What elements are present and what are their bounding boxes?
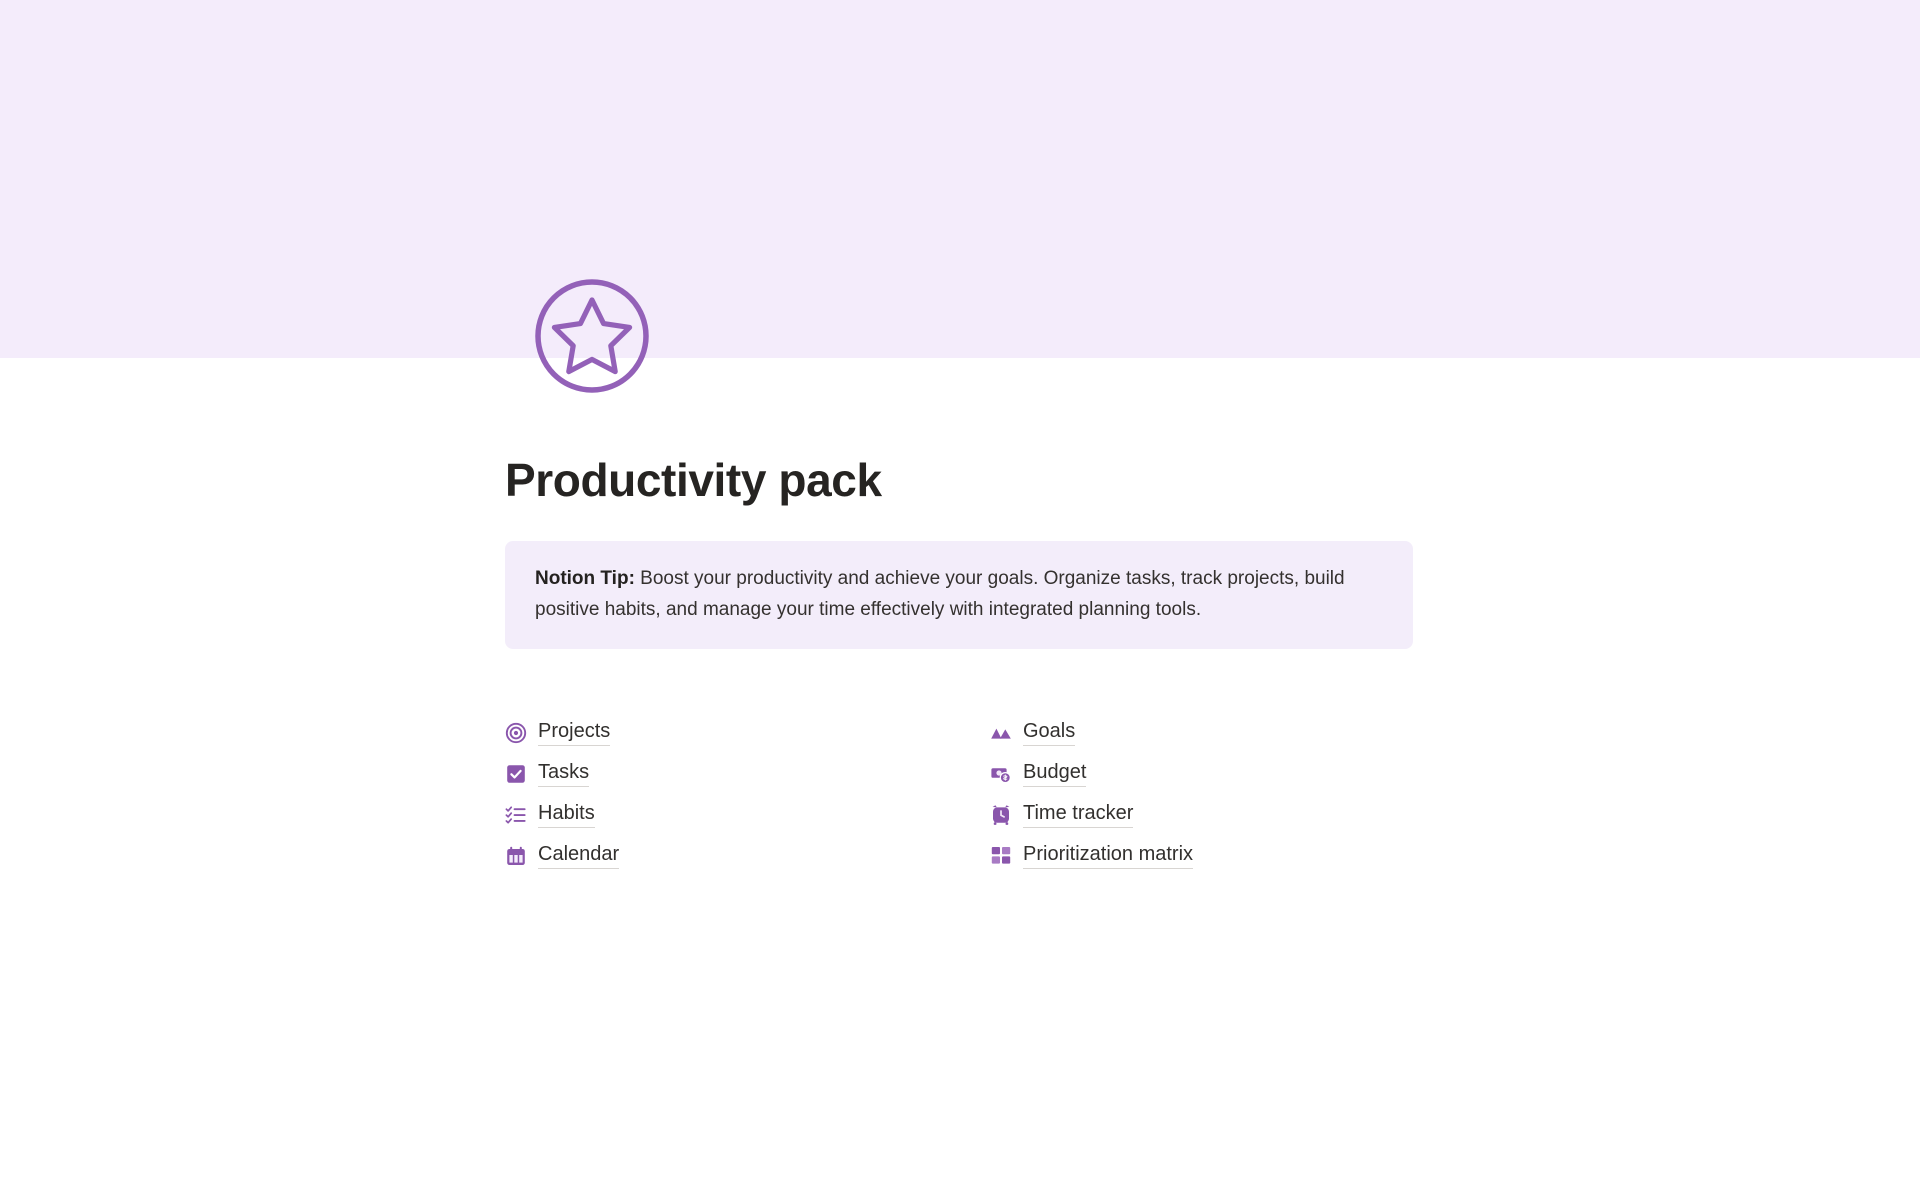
- page-cover: [0, 0, 1920, 358]
- calendar-icon: [505, 845, 527, 867]
- callout-text: Notion Tip: Boost your productivity and …: [535, 563, 1383, 625]
- checkbox-checked-icon: [505, 763, 527, 785]
- page-link-prioritization-matrix[interactable]: Prioritization matrix: [990, 835, 1193, 876]
- page-link-time-tracker[interactable]: Time tracker: [990, 794, 1133, 835]
- page-link-tasks[interactable]: Tasks: [505, 753, 589, 794]
- page-link-label: Time tracker: [1023, 801, 1133, 828]
- page-link-label: Tasks: [538, 760, 589, 787]
- page-links-grid: Projects Goals: [505, 712, 1415, 876]
- checklist-icon: [505, 804, 527, 826]
- page-link-projects[interactable]: Projects: [505, 712, 610, 753]
- money-icon: [990, 763, 1012, 785]
- page-link-calendar[interactable]: Calendar: [505, 835, 619, 876]
- notion-tip-callout: Notion Tip: Boost your productivity and …: [505, 541, 1413, 649]
- page-link-label: Budget: [1023, 760, 1086, 787]
- page-link-goals[interactable]: Goals: [990, 712, 1075, 753]
- mountains-icon: [990, 722, 1012, 744]
- callout-body: Boost your productivity and achieve your…: [535, 568, 1345, 620]
- page-link-label: Prioritization matrix: [1023, 842, 1193, 869]
- page-link-label: Habits: [538, 801, 595, 828]
- star-in-circle-icon[interactable]: [524, 268, 660, 404]
- page-link-habits[interactable]: Habits: [505, 794, 595, 835]
- grid-matrix-icon: [990, 845, 1012, 867]
- page-link-label: Goals: [1023, 719, 1075, 746]
- target-icon: [505, 722, 527, 744]
- page-link-budget[interactable]: Budget: [990, 753, 1086, 794]
- page-link-label: Calendar: [538, 842, 619, 869]
- alarm-clock-icon: [990, 804, 1012, 826]
- page-title: Productivity pack: [505, 452, 1415, 508]
- page-link-label: Projects: [538, 719, 610, 746]
- notion-page: Productivity pack Notion Tip: Boost your…: [0, 0, 1920, 1199]
- callout-label: Notion Tip:: [535, 568, 635, 589]
